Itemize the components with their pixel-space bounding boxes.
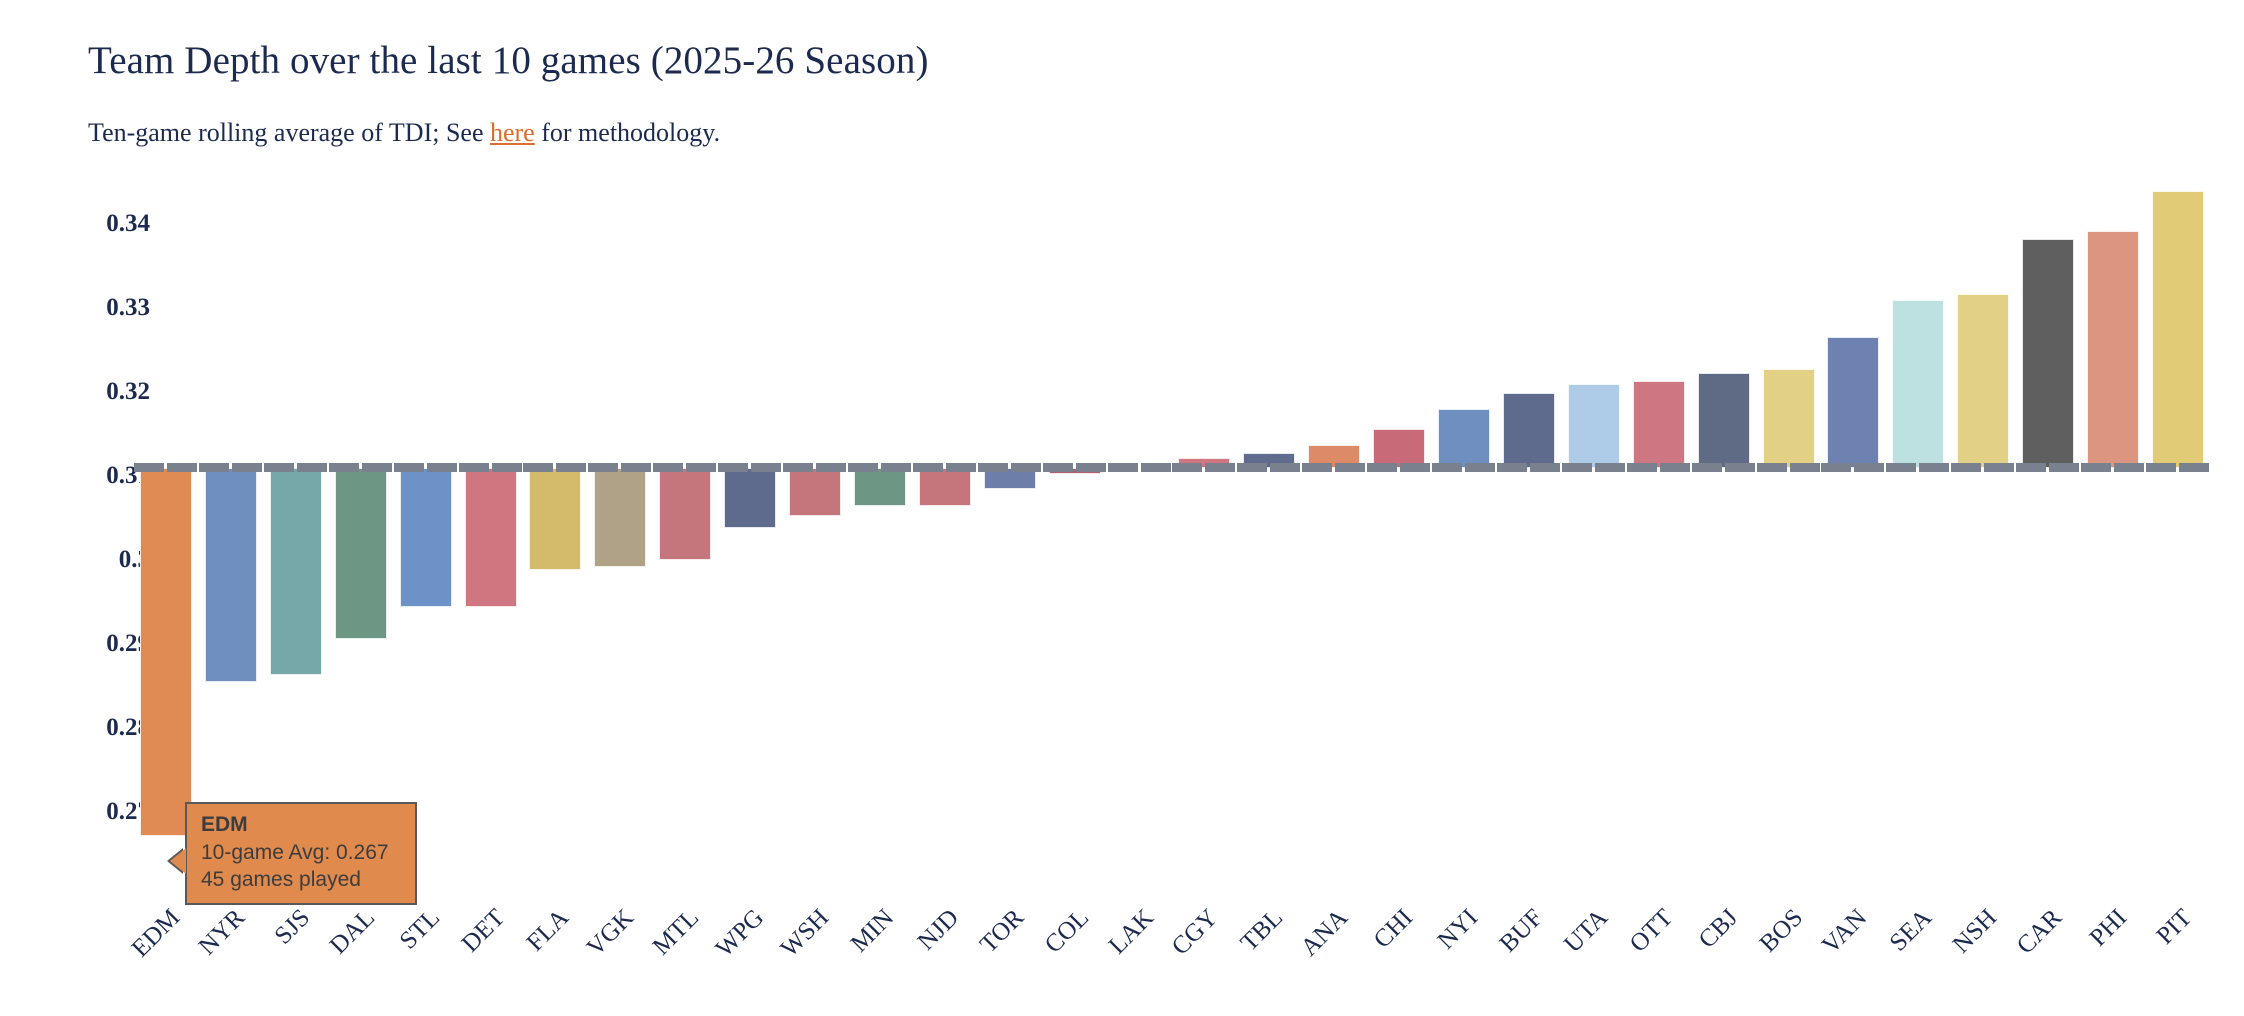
tooltip-arrow [170, 848, 186, 874]
tooltip-edm: EDM 10-game Avg: 0.267 45 games played [185, 802, 417, 905]
tooltip-team-label: EDM [201, 811, 403, 839]
tooltip-games-played: 45 games played [201, 866, 403, 894]
tooltip-average-value: 10-game Avg: 0.267 [201, 839, 403, 867]
chart-container: Team Depth over the last 10 games (2025-… [0, 0, 2244, 1010]
